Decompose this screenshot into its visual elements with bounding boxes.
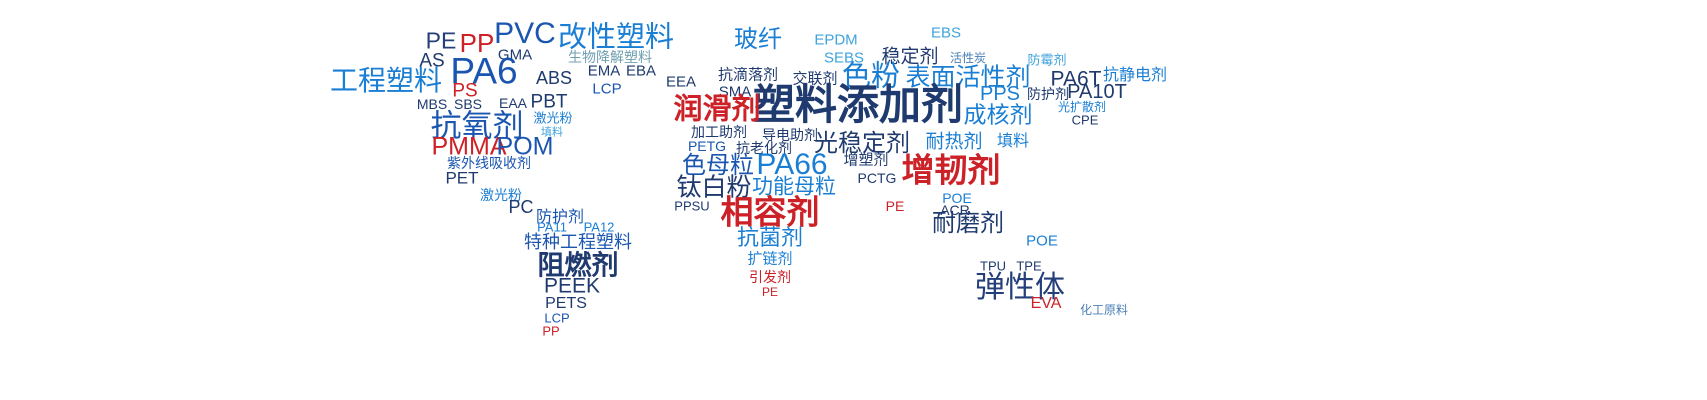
wordcloud-term[interactable]: PE xyxy=(762,286,778,298)
wordcloud-term[interactable]: EBS xyxy=(931,26,961,41)
wordcloud-term[interactable]: 增韧剂 xyxy=(902,154,1001,187)
wordcloud-term[interactable]: 引发剂 xyxy=(749,270,791,284)
wordcloud-term[interactable]: PCTG xyxy=(858,171,897,185)
wordcloud-term[interactable]: 扩链剂 xyxy=(747,252,792,267)
wordcloud-term[interactable]: 填料 xyxy=(997,134,1029,150)
wordcloud-term[interactable]: PET xyxy=(445,170,478,187)
wordcloud-term[interactable]: 润滑剂 xyxy=(673,96,760,125)
wordcloud-term[interactable]: PPSU xyxy=(674,200,709,213)
wordcloud-term[interactable]: 防霉剂 xyxy=(1027,54,1066,67)
wordcloud-term[interactable]: ABS xyxy=(536,69,572,87)
wordcloud-term[interactable]: 特种工程塑料 xyxy=(524,233,632,251)
wordcloud-term[interactable]: 成核剂 xyxy=(964,104,1033,127)
wordcloud-term[interactable]: PEEK xyxy=(544,276,600,297)
wordcloud-term[interactable]: 加工助剂 xyxy=(691,125,747,139)
wordcloud-term[interactable]: 工程塑料 xyxy=(330,67,442,95)
wordcloud-term[interactable]: PE xyxy=(426,30,457,53)
wordcloud-term[interactable]: PA10T xyxy=(1067,82,1127,102)
wordcloud-term[interactable]: EBA xyxy=(626,64,656,79)
wordcloud-term[interactable]: 化工原料 xyxy=(1080,304,1128,316)
wordcloud-term[interactable]: 防护剂 xyxy=(1027,87,1069,101)
wordcloud-term[interactable]: 耐热剂 xyxy=(925,133,982,152)
wordcloud-term[interactable]: 增塑剂 xyxy=(843,153,888,168)
wordcloud-term[interactable]: EEA xyxy=(666,75,696,90)
wordcloud-term[interactable]: 活性炭 xyxy=(950,52,986,64)
wordcloud-term[interactable]: PBT xyxy=(531,93,568,112)
wordcloud-term[interactable]: 耐磨剂 xyxy=(932,212,1004,236)
wordcloud-term[interactable]: PVC xyxy=(494,19,556,49)
wordcloud-term[interactable]: 塑料添加剂 xyxy=(753,84,963,126)
wordcloud-term[interactable]: EVA xyxy=(1031,296,1062,312)
wordcloud-term[interactable]: EPDM xyxy=(814,33,857,48)
wordcloud-term[interactable]: PETG xyxy=(688,139,726,153)
wordcloud-canvas: PEPPPVCGMA改性塑料玻纤EPDMEBSASPA6生物降解塑料SEBS稳定… xyxy=(0,0,1707,400)
wordcloud-term[interactable]: 相容剂 xyxy=(721,196,820,229)
wordcloud-term[interactable]: LCP xyxy=(592,82,621,97)
wordcloud-term[interactable]: 抗菌剂 xyxy=(737,227,803,249)
wordcloud-term[interactable]: PE xyxy=(886,199,905,213)
wordcloud-term[interactable]: POE xyxy=(1026,234,1058,249)
wordcloud-term[interactable]: EMA xyxy=(588,64,621,79)
wordcloud-term[interactable]: CPE xyxy=(1072,114,1099,127)
wordcloud-term[interactable]: PC xyxy=(508,198,533,216)
wordcloud-term[interactable]: 光扩散剂 xyxy=(1058,101,1106,113)
wordcloud-term[interactable]: 激光粉 xyxy=(533,112,572,125)
wordcloud-term[interactable]: 玻纤 xyxy=(734,28,782,52)
wordcloud-term[interactable]: PP xyxy=(542,325,559,338)
